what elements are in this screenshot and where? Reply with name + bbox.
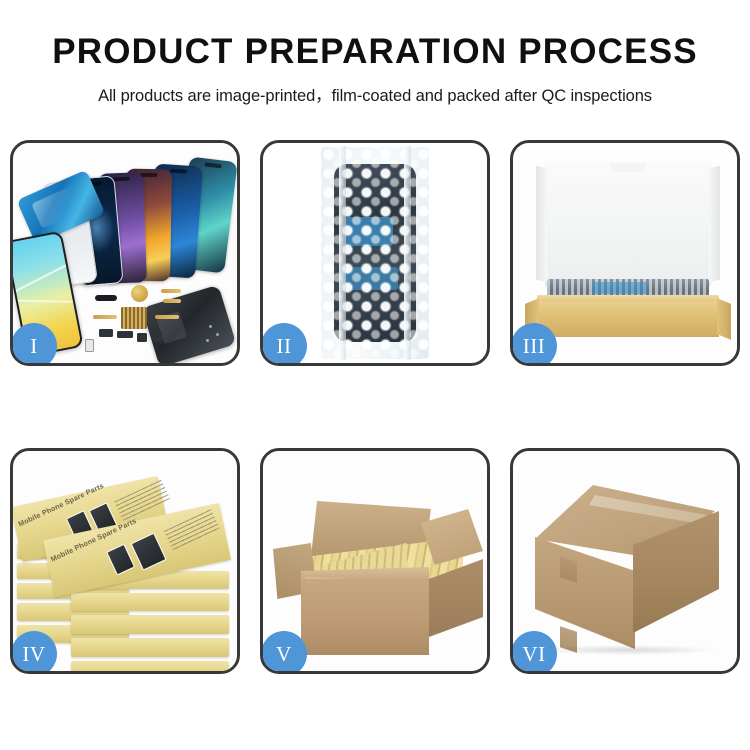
product-preparation-infographic: PRODUCT PREPARATION PROCESS All products… xyxy=(0,0,750,750)
process-step-grid: I II xyxy=(10,140,740,674)
part-flex-cable-2 xyxy=(163,299,181,303)
part-connector-grid xyxy=(121,307,147,329)
page-subtitle: All products are image-printed，film-coat… xyxy=(0,82,750,106)
retail-box-edge-r5 xyxy=(71,661,229,671)
retail-box-edge-r4 xyxy=(71,638,229,657)
header: PRODUCT PREPARATION PROCESS All products… xyxy=(0,34,750,106)
mailer-inner-foam xyxy=(549,203,707,283)
screw-2 xyxy=(216,333,219,336)
step-3-badge: III xyxy=(511,323,557,366)
carton-side-front xyxy=(301,579,429,655)
part-module-1 xyxy=(99,329,113,337)
screw-3 xyxy=(206,339,209,342)
retail-box-edge-r3 xyxy=(71,615,229,634)
process-step-5: V xyxy=(260,448,490,674)
process-step-2: II xyxy=(260,140,490,366)
retail-box-label-1: Mobile Phone Spare Parts xyxy=(17,481,106,529)
process-step-1: I xyxy=(10,140,240,366)
part-flex-cable-4 xyxy=(155,315,179,319)
part-flex-cable-3 xyxy=(93,315,117,319)
retail-box-edge-r2 xyxy=(71,593,229,611)
page-title: PRODUCT PREPARATION PROCESS xyxy=(0,34,750,71)
part-module-4 xyxy=(153,331,162,342)
part-camera-strip xyxy=(95,295,117,301)
part-flex-cable-1 xyxy=(161,289,181,293)
screw-1 xyxy=(209,325,212,328)
sleeve-edge-left xyxy=(339,146,346,360)
step-1-badge: I xyxy=(11,323,57,366)
step-5-badge: V xyxy=(261,631,307,674)
sealed-carton-shadow xyxy=(537,645,717,655)
sleeve-edge-right xyxy=(404,146,411,360)
part-module-2 xyxy=(117,331,133,338)
part-sim-tray xyxy=(85,339,94,352)
process-step-4: Mobile Phone Spare Parts Mobile Phone Sp… xyxy=(10,448,240,674)
part-module-3 xyxy=(137,333,147,342)
step-6-badge: VI xyxy=(511,631,557,674)
process-step-6: VI xyxy=(510,448,740,674)
mailer-lid-tab xyxy=(610,163,646,172)
step-4-badge: IV xyxy=(11,631,57,674)
bubble-texture-offset xyxy=(319,145,431,361)
part-speaker-coil xyxy=(131,285,148,302)
retail-box-phone-art-2b xyxy=(130,533,166,571)
retail-box-phone-art-2a xyxy=(106,544,135,576)
process-step-3: III xyxy=(510,140,740,366)
mailer-box-base xyxy=(537,301,719,337)
retail-box-text-lines-2 xyxy=(164,509,220,551)
step-2-badge: II xyxy=(261,323,307,366)
